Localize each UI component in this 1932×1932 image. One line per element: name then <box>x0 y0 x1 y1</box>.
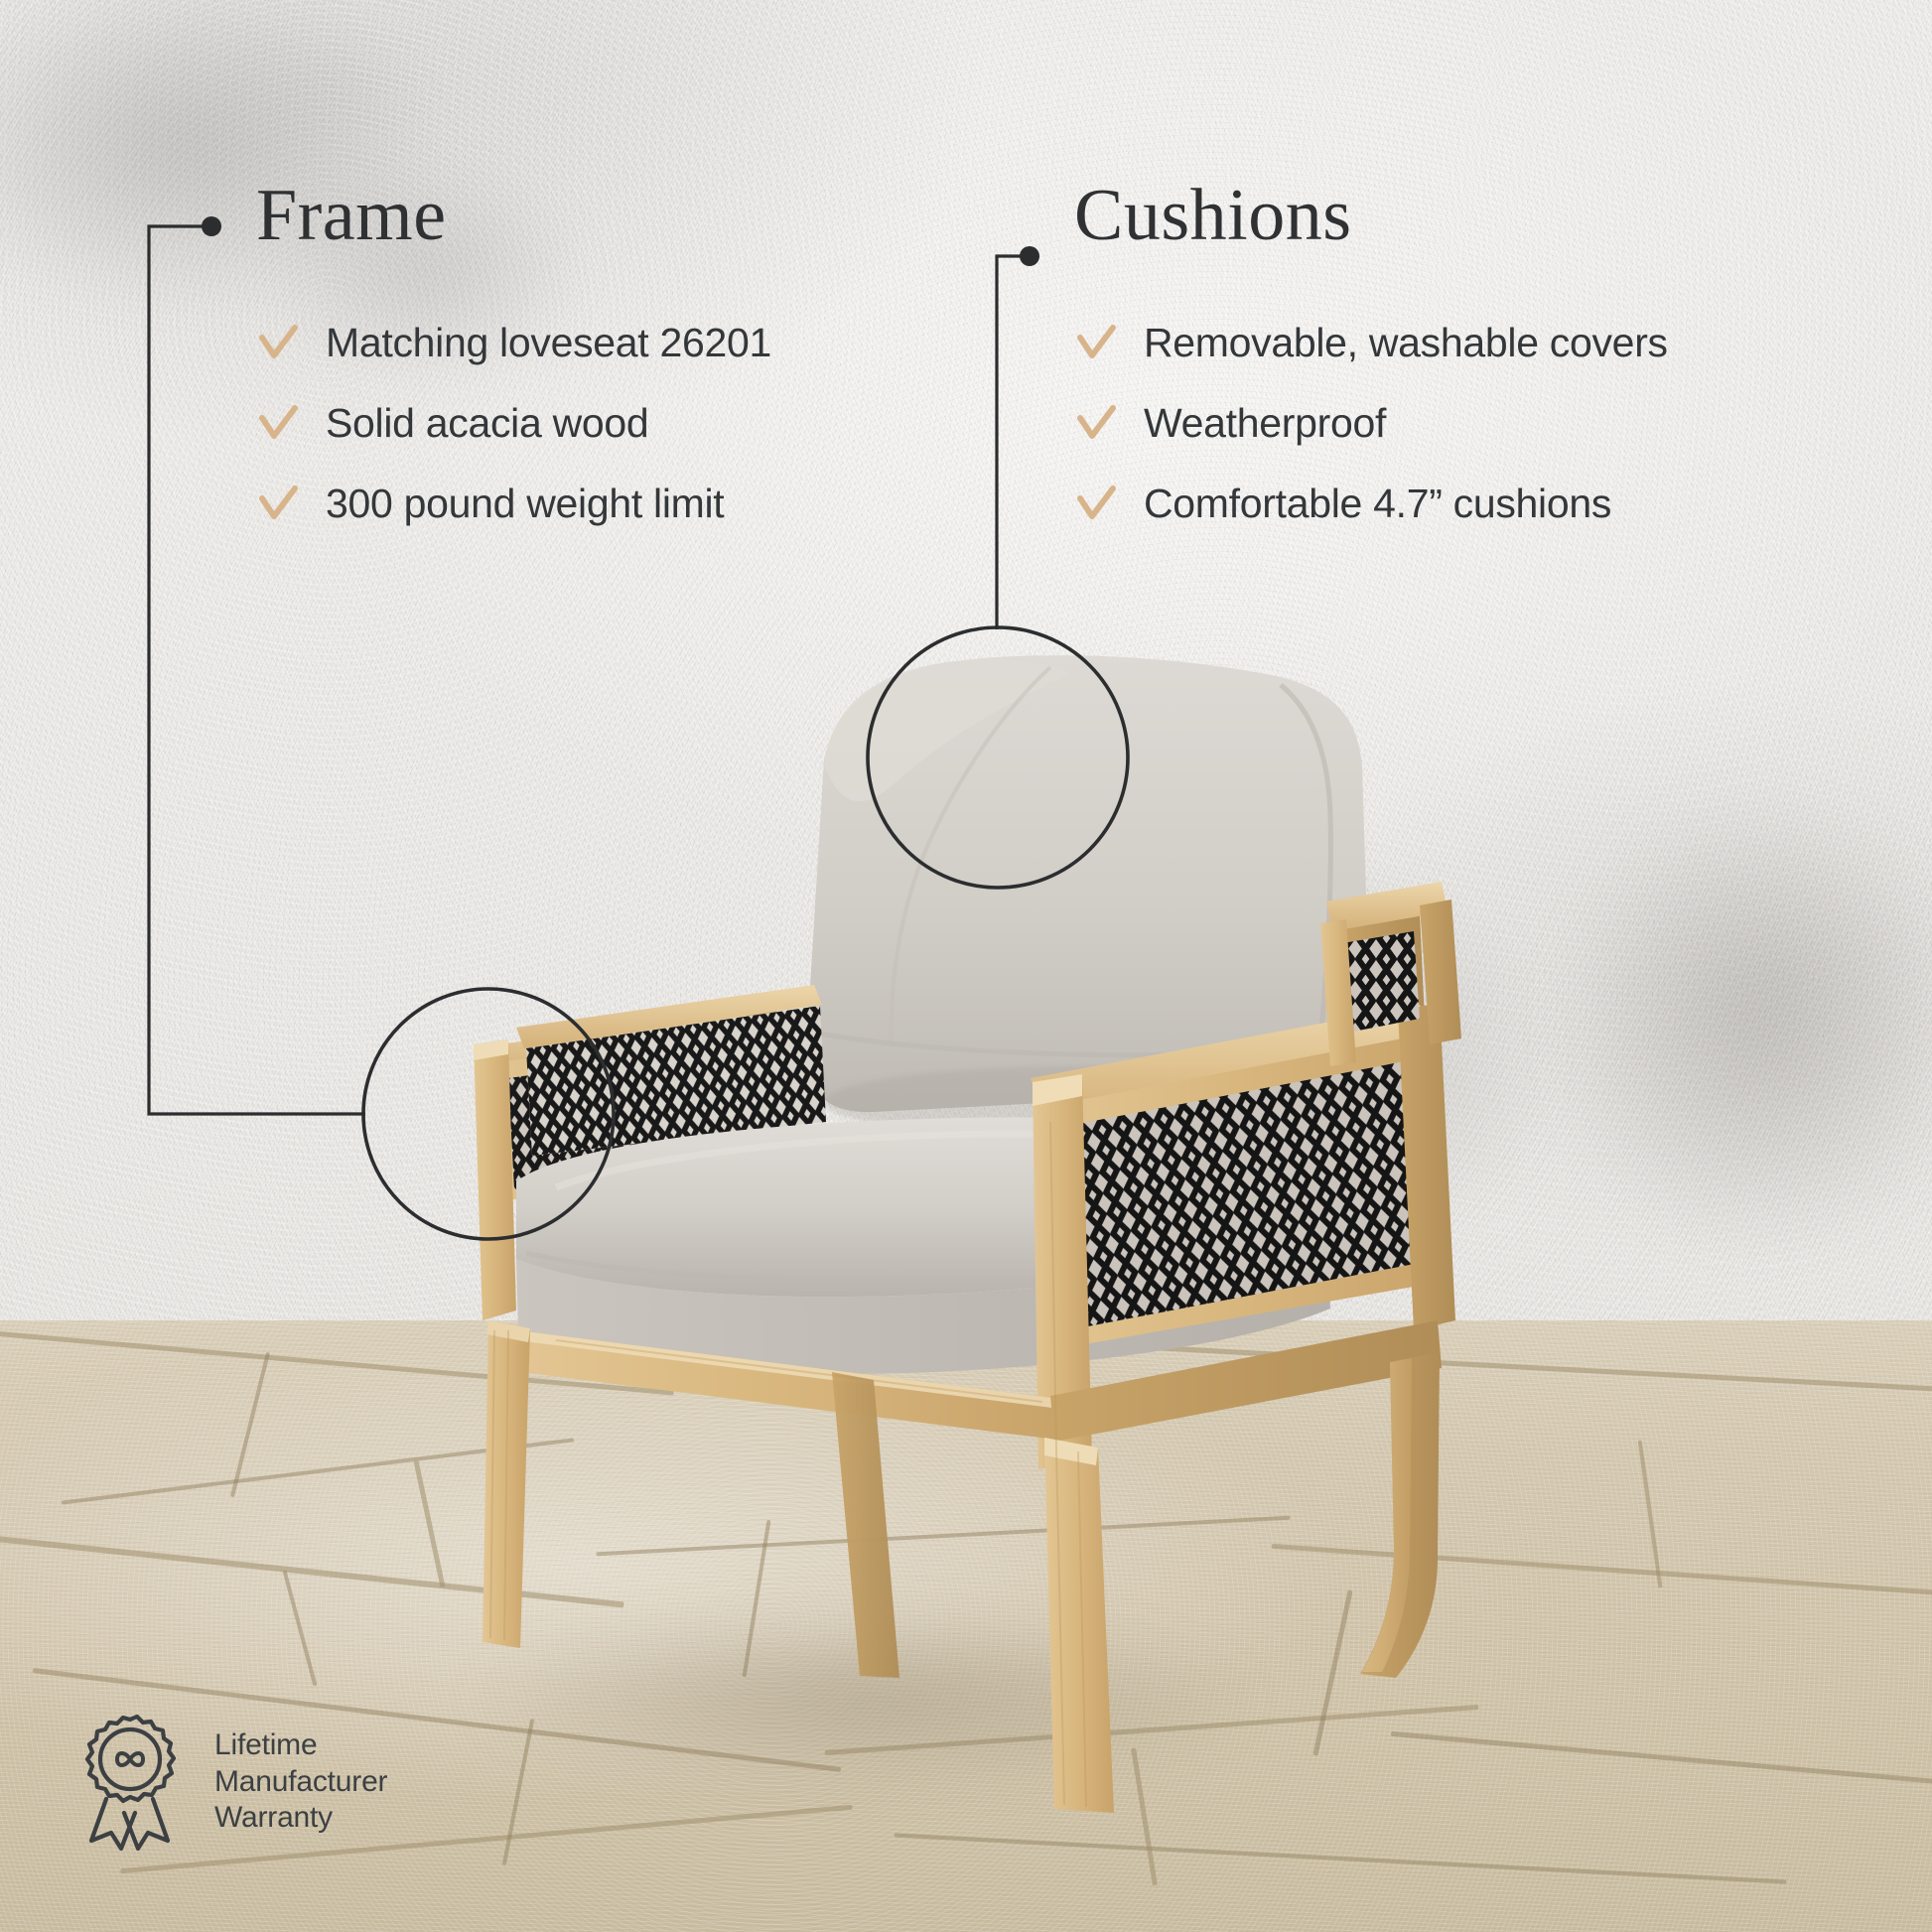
frame-heading: Frame <box>256 179 771 252</box>
check-icon <box>1074 322 1118 365</box>
cushions-feature-column: Cushions Removable, washable covers Weat… <box>1074 179 1668 527</box>
cushions-feature-2-label: Weatherproof <box>1144 400 1386 447</box>
warranty-line-1: Lifetime <box>214 1727 387 1764</box>
frame-feature-2-label: Solid acacia wood <box>326 400 648 447</box>
check-icon <box>256 483 300 526</box>
product-feature-infographic: Frame Matching loveseat 26201 Solid acac… <box>0 0 1932 1932</box>
check-icon <box>256 322 300 365</box>
frame-feature-1: Matching loveseat 26201 <box>256 320 771 366</box>
frame-feature-1-label: Matching loveseat 26201 <box>326 320 771 366</box>
cushions-heading: Cushions <box>1074 179 1668 252</box>
frame-feature-3-label: 300 pound weight limit <box>326 481 724 527</box>
cushions-feature-3-label: Comfortable 4.7” cushions <box>1144 481 1611 527</box>
frame-feature-2: Solid acacia wood <box>256 400 771 447</box>
frame-feature-column: Frame Matching loveseat 26201 Solid acac… <box>256 179 771 527</box>
lifetime-warranty-badge: Lifetime Manufacturer Warranty <box>73 1714 387 1851</box>
frame-feature-3: 300 pound weight limit <box>256 481 771 527</box>
check-icon <box>256 402 300 446</box>
check-icon <box>1074 402 1118 446</box>
cushions-feature-2: Weatherproof <box>1074 400 1668 447</box>
cushions-feature-1: Removable, washable covers <box>1074 320 1668 366</box>
award-ribbon-infinity-icon <box>73 1714 195 1851</box>
warranty-text-block: Lifetime Manufacturer Warranty <box>214 1727 387 1838</box>
cushions-feature-3: Comfortable 4.7” cushions <box>1074 481 1668 527</box>
check-icon <box>1074 483 1118 526</box>
warranty-line-2: Manufacturer <box>214 1764 387 1801</box>
cushions-feature-1-label: Removable, washable covers <box>1144 320 1668 366</box>
warranty-line-3: Warranty <box>214 1800 387 1837</box>
